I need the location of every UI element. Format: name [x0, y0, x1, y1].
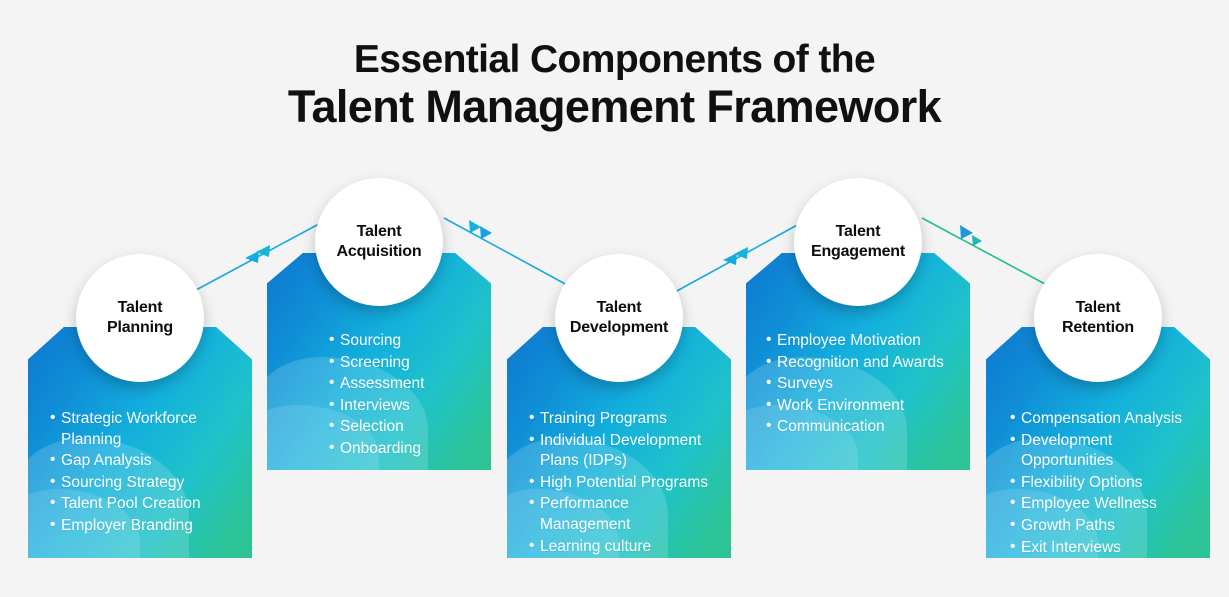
badge-label-line2: Retention — [1062, 319, 1134, 336]
list-item: High Potential Programs — [529, 473, 721, 494]
badge-label: Talent Engagement — [805, 222, 911, 261]
list-item: Interviews — [329, 396, 481, 417]
list-item: Compensation Analysis — [1010, 409, 1200, 430]
list-item: Performance Management — [529, 494, 721, 535]
badge-label-line2: Development — [570, 319, 668, 336]
chevron-arrow-icon — [972, 235, 982, 246]
title-line-2: Talent Management Framework — [0, 82, 1229, 132]
badge-label: Talent Retention — [1056, 298, 1140, 337]
badge-label-line2: Acquisition — [337, 243, 422, 260]
list-item: Flexibility Options — [1010, 473, 1200, 494]
list-item: Communication — [766, 417, 960, 438]
badge-label: Talent Acquisition — [331, 222, 428, 261]
list-item: Exit Interviews — [1010, 538, 1200, 559]
list-item: Gap Analysis — [50, 451, 242, 472]
pillar-item-list: Training Programs Individual Development… — [507, 409, 731, 558]
list-item: Strategic Workforce Planning — [50, 409, 242, 450]
list-item: Training Programs — [529, 409, 721, 430]
badge-label-line2: Engagement — [811, 243, 905, 260]
list-item: Assessment — [329, 374, 481, 395]
list-item: Individual Development Plans (IDPs) — [529, 431, 721, 472]
chevron-arrow-icon — [245, 251, 259, 263]
list-item: Recognition and Awards — [766, 353, 960, 374]
badge-label-line1: Talent — [357, 223, 402, 240]
list-item: Sourcing — [329, 331, 481, 352]
list-item: Onboarding — [329, 439, 481, 460]
chevron-arrow-icon — [469, 220, 481, 233]
chevron-arrow-icon — [480, 226, 492, 239]
list-item: Selection — [329, 417, 481, 438]
badge-talent-acquisition[interactable]: Talent Acquisition — [315, 178, 443, 306]
chevron-arrow-icon — [734, 247, 748, 259]
list-item: Talent Pool Creation — [50, 494, 242, 515]
pillar-item-list: Employee Motivation Recognition and Awar… — [746, 331, 970, 439]
list-item: Sourcing Strategy — [50, 473, 242, 494]
infographic-canvas: Essential Components of the Talent Manag… — [0, 0, 1229, 597]
badge-label: Talent Development — [564, 298, 674, 337]
list-item: Growth Paths — [1010, 516, 1200, 537]
page-title: Essential Components of the Talent Manag… — [0, 38, 1229, 132]
badge-label-line2: Planning — [107, 319, 173, 336]
badge-label-line1: Talent — [118, 299, 163, 316]
list-item: Work Environment — [766, 396, 960, 417]
list-item: Development Opportunities — [1010, 431, 1200, 472]
pillar-item-list: Sourcing Screening Assessment Interviews… — [267, 331, 491, 461]
badge-talent-planning[interactable]: Talent Planning — [76, 254, 204, 382]
chevron-arrow-icon — [960, 225, 973, 239]
chevron-arrow-icon — [723, 253, 737, 265]
chevron-arrow-icon — [256, 245, 270, 257]
list-item: Screening — [329, 353, 481, 374]
badge-label: Talent Planning — [101, 298, 179, 337]
title-line-1: Essential Components of the — [0, 38, 1229, 82]
list-item: Learning culture — [529, 537, 721, 558]
badge-label-line1: Talent — [597, 299, 642, 316]
list-item: Employer Branding — [50, 516, 242, 537]
pillar-item-list: Strategic Workforce Planning Gap Analysi… — [28, 409, 252, 538]
pillar-item-list: Compensation Analysis Development Opport… — [986, 409, 1210, 559]
list-item: Employee Motivation — [766, 331, 960, 352]
badge-label-line1: Talent — [836, 223, 881, 240]
badge-talent-engagement[interactable]: Talent Engagement — [794, 178, 922, 306]
badge-label-line1: Talent — [1076, 299, 1121, 316]
list-item: Employee Wellness — [1010, 494, 1200, 515]
list-item: Surveys — [766, 374, 960, 395]
badge-talent-development[interactable]: Talent Development — [555, 254, 683, 382]
badge-talent-retention[interactable]: Talent Retention — [1034, 254, 1162, 382]
